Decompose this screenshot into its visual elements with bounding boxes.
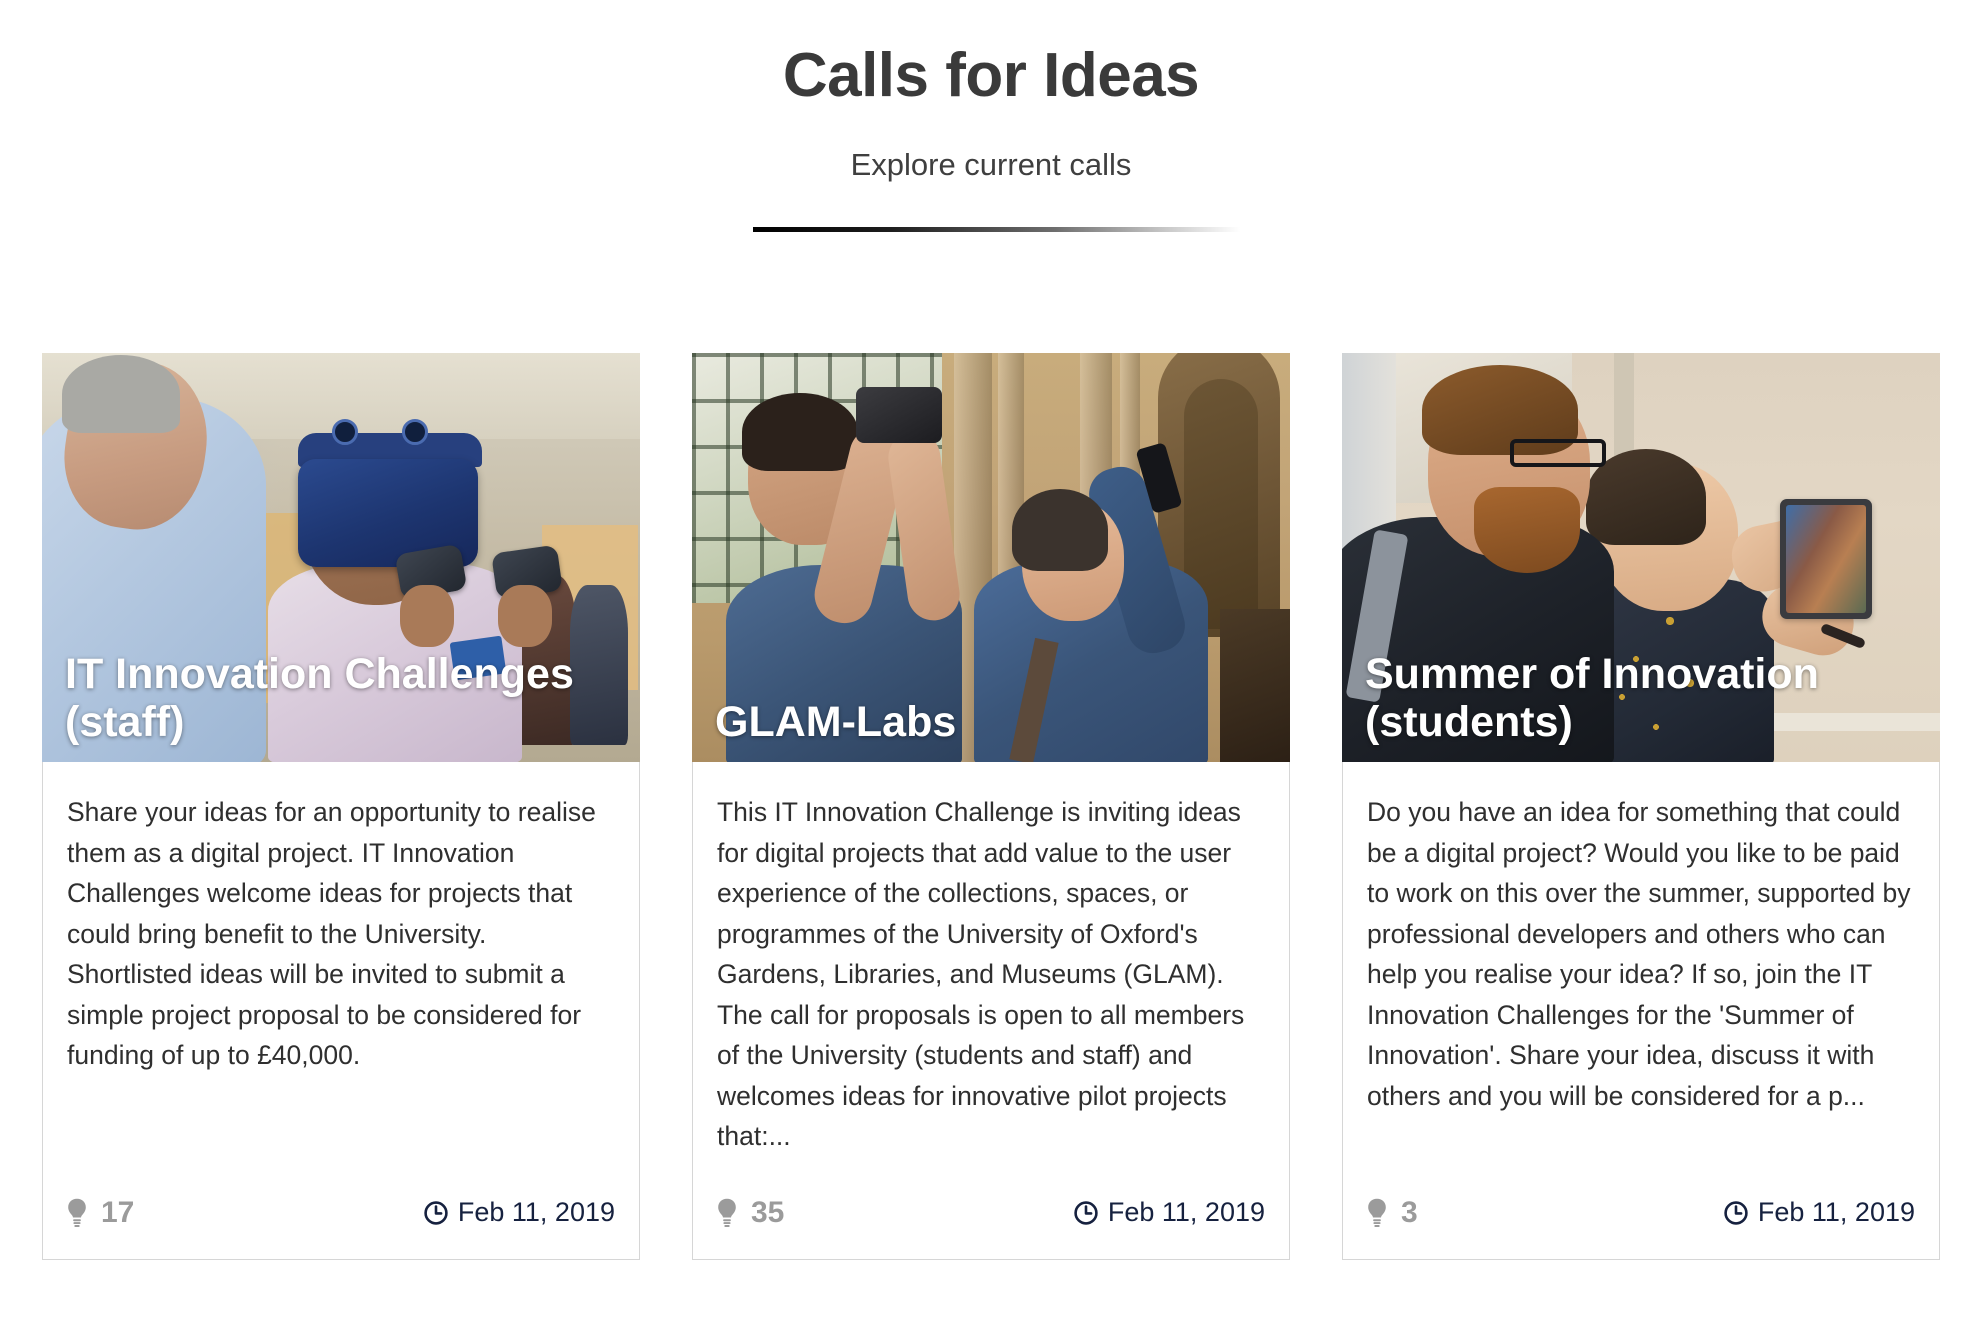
calls-card-grid: IT Innovation Challenges (staff) Share y… [42,353,1940,1260]
call-card-summer-of-innovation-students[interactable]: Summer of Innovation (students) Do you h… [1342,353,1940,1260]
card-idea-count: 35 [751,1198,784,1228]
page-subtitle: Explore current calls [0,110,1982,183]
card-body: This IT Innovation Challenge is inviting… [693,762,1289,1167]
card-footer: 3 Feb 11, 2019 [1343,1167,1939,1259]
card-date-group: Feb 11, 2019 [1723,1199,1915,1226]
card-excerpt: Do you have an idea for something that c… [1367,792,1915,1116]
clock-icon [1073,1200,1099,1226]
card-excerpt: This IT Innovation Challenge is inviting… [717,792,1265,1157]
card-media[interactable]: IT Innovation Challenges (staff) [43,354,639,762]
clock-icon [423,1200,449,1226]
card-idea-count-group: 35 [717,1198,784,1228]
card-idea-count-group: 3 [1367,1198,1418,1228]
lightbulb-icon [717,1198,737,1228]
lightbulb-icon [67,1198,87,1228]
card-media[interactable]: Summer of Innovation (students) [1343,354,1939,762]
calls-for-ideas-page: Calls for Ideas Explore current calls [0,0,1982,1334]
card-title[interactable]: IT Innovation Challenges (staff) [65,650,639,746]
card-media[interactable]: GLAM-Labs [693,354,1289,762]
card-body: Share your ideas for an opportunity to r… [43,762,639,1167]
card-excerpt: Share your ideas for an opportunity to r… [67,792,615,1076]
card-title[interactable]: GLAM-Labs [715,698,956,746]
card-date-group: Feb 11, 2019 [423,1199,615,1226]
call-card-it-innovation-challenges-staff[interactable]: IT Innovation Challenges (staff) Share y… [42,353,640,1260]
call-card-glam-labs[interactable]: GLAM-Labs This IT Innovation Challenge i… [692,353,1290,1260]
page-title: Calls for Ideas [0,42,1982,110]
card-date-group: Feb 11, 2019 [1073,1199,1265,1226]
card-footer: 35 Feb 11, 2019 [693,1167,1289,1259]
card-title[interactable]: Summer of Innovation (students) [1365,650,1939,746]
page-header: Calls for Ideas Explore current calls [0,0,1982,232]
clock-icon [1723,1200,1749,1226]
card-idea-count: 3 [1401,1198,1418,1228]
card-date: Feb 11, 2019 [1108,1199,1265,1226]
card-idea-count-group: 17 [67,1198,134,1228]
card-idea-count: 17 [101,1198,134,1228]
card-body: Do you have an idea for something that c… [1343,762,1939,1167]
card-footer: 17 Feb 11, 2019 [43,1167,639,1259]
header-divider-wrap [0,183,1982,232]
header-divider [753,227,1240,232]
lightbulb-icon [1367,1198,1387,1228]
card-date: Feb 11, 2019 [1758,1199,1915,1226]
card-date: Feb 11, 2019 [458,1199,615,1226]
